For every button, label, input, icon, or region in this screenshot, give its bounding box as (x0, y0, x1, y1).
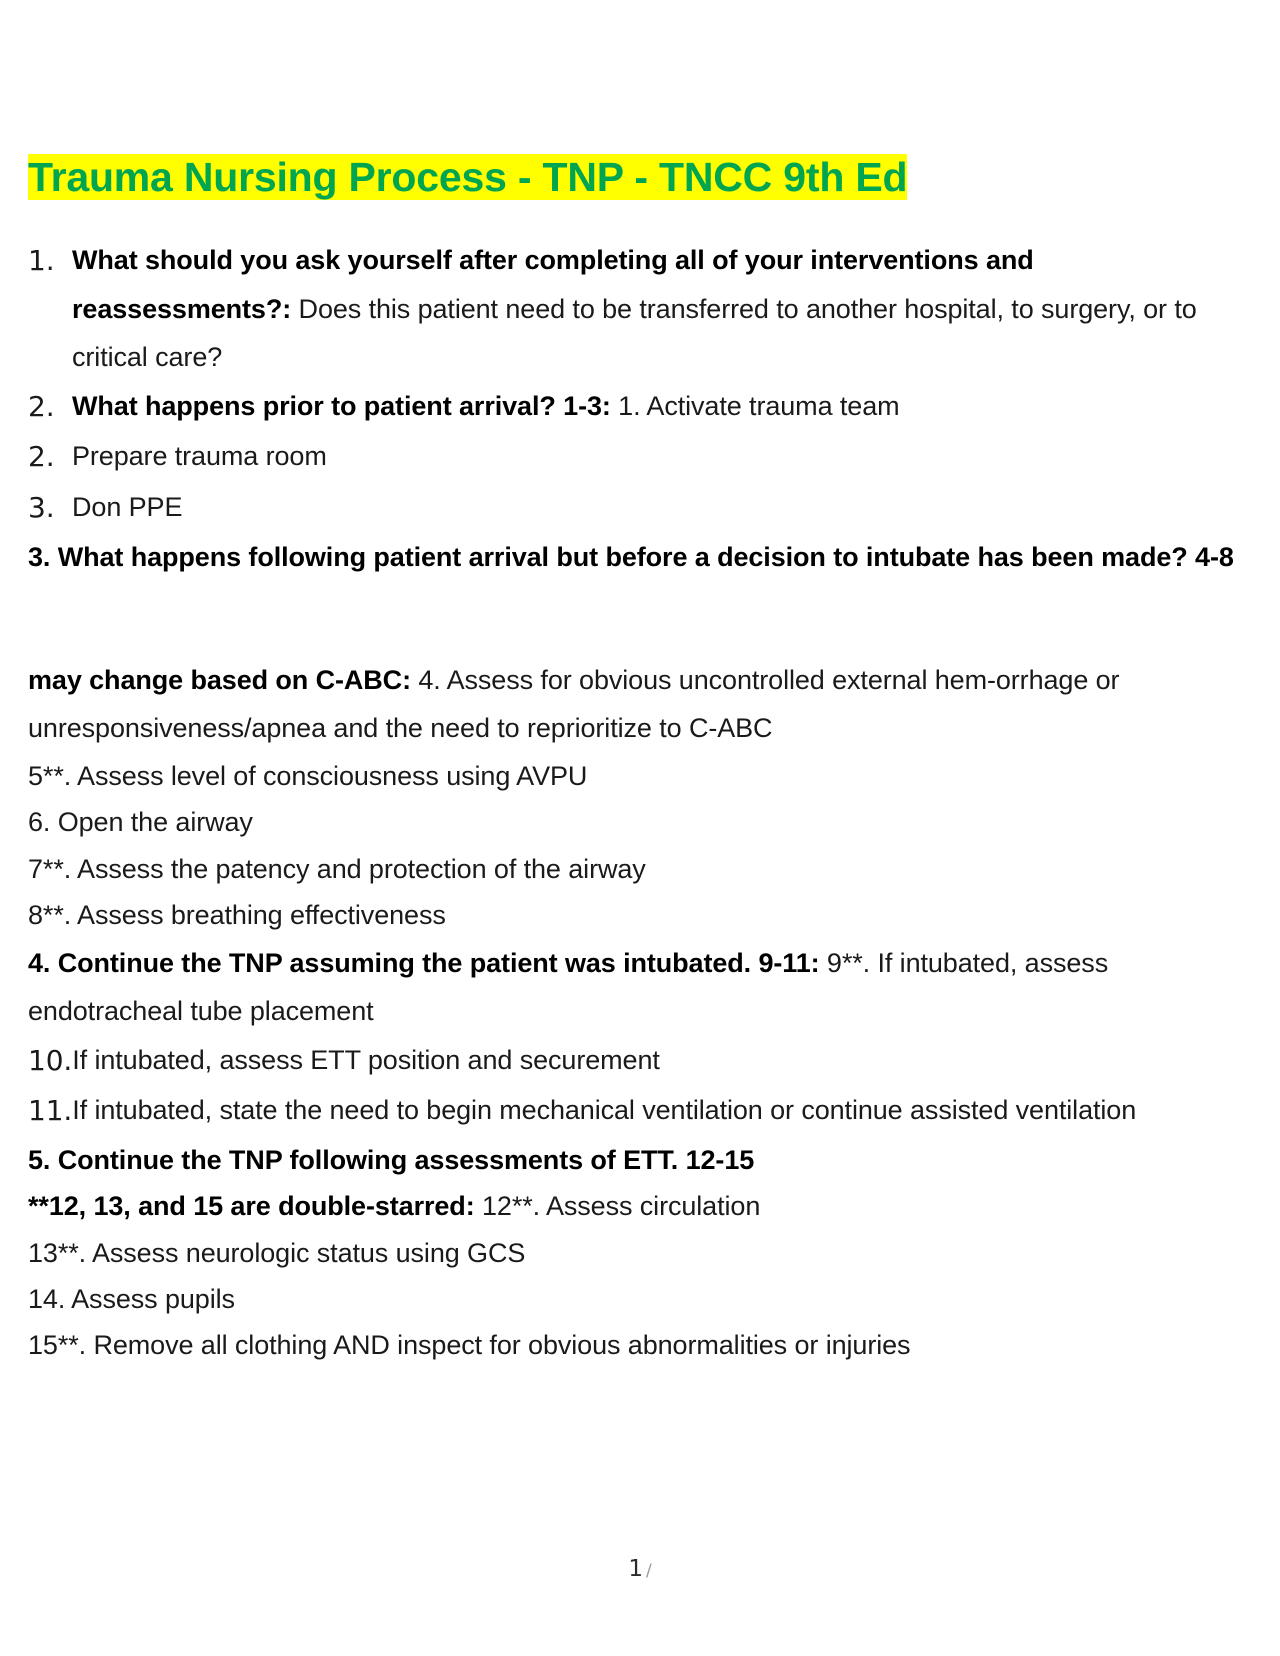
blank-spacer (28, 582, 1252, 656)
page-title: Trauma Nursing Process - TNP - TNCC 9th … (28, 154, 907, 200)
page-separator: / (646, 1561, 652, 1581)
list-marker: 2. (28, 382, 72, 432)
step-line: 14. Assess pupils (28, 1276, 1252, 1322)
step-line: 15**. Remove all clothing AND inspect fo… (28, 1322, 1252, 1368)
page-footer: 1/ (0, 1556, 1280, 1582)
list-item-text: What should you ask yourself after compl… (72, 236, 1252, 382)
answer-text: 1. Activate trauma team (611, 391, 900, 421)
list-marker: 3. (28, 483, 72, 533)
question-text: What happens prior to patient arrival? 1… (72, 391, 611, 421)
starred-note: **12, 13, and 15 are double-starred: 12*… (28, 1183, 1252, 1229)
step-line: 5**. Assess level of consciousness using… (28, 753, 1252, 799)
list-item-text: Don PPE (72, 483, 1252, 532)
list-item-text: If intubated, assess ETT position and se… (72, 1036, 1252, 1085)
document-page: Trauma Nursing Process - TNP - TNCC 9th … (0, 0, 1280, 1656)
step-line: 6. Open the airway (28, 799, 1252, 845)
question-3: 3. What happens following patient arriva… (28, 533, 1252, 582)
question-text: may change based on C-ABC: (28, 665, 411, 695)
list-item: 11. If intubated, state the need to begi… (28, 1086, 1252, 1136)
list-item: 10. If intubated, assess ETT position an… (28, 1036, 1252, 1086)
page-number: 1 (628, 1556, 643, 1582)
question-5: 5. Continue the TNP following assessment… (28, 1137, 1252, 1183)
question-text: **12, 13, and 15 are double-starred: (28, 1191, 475, 1221)
question-text: 4. Continue the TNP assuming the patient… (28, 948, 820, 978)
step-line: 7**. Assess the patency and protection o… (28, 846, 1252, 892)
list-item-text: Prepare trauma room (72, 432, 1252, 481)
list-item: 2. What happens prior to patient arrival… (28, 382, 1252, 432)
cabc-paragraph: may change based on C-ABC: 4. Assess for… (28, 656, 1252, 753)
list-item-text: What happens prior to patient arrival? 1… (72, 382, 1252, 431)
list-marker: 2. (28, 432, 72, 482)
list-item: 1. What should you ask yourself after co… (28, 236, 1252, 382)
list-item: 2. Prepare trauma room (28, 432, 1252, 482)
answer-text: 12**. Assess circulation (475, 1191, 761, 1221)
list-item-text: If intubated, state the need to begin me… (72, 1086, 1252, 1135)
question-4: 4. Continue the TNP assuming the patient… (28, 939, 1252, 1036)
step-line: 13**. Assess neurologic status using GCS (28, 1230, 1252, 1276)
document-body: 1. What should you ask yourself after co… (28, 236, 1252, 1369)
list-marker: 10. (28, 1036, 72, 1086)
list-item: 3. Don PPE (28, 483, 1252, 533)
list-marker: 11. (28, 1086, 72, 1136)
step-line: 8**. Assess breathing effectiveness (28, 892, 1252, 938)
title-container: Trauma Nursing Process - TNP - TNCC 9th … (28, 0, 1252, 206)
list-marker: 1. (28, 236, 72, 286)
